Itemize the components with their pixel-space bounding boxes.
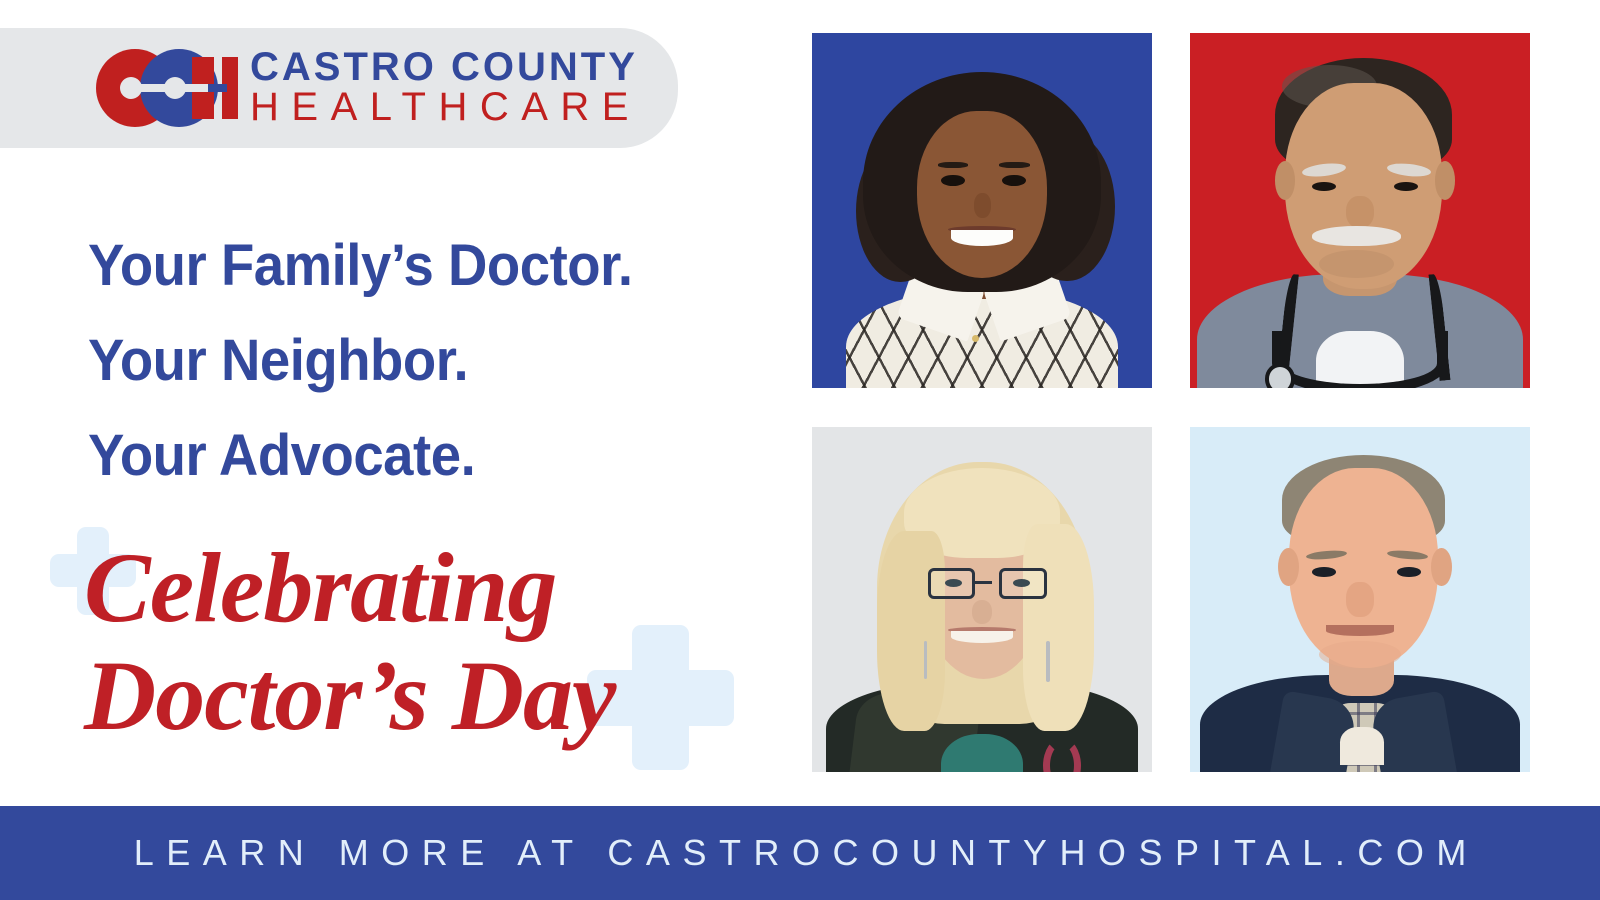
bottom-banner: LEARN MORE AT CASTROCOUNTYHOSPITAL.COM xyxy=(0,806,1600,900)
logo-wordmark: CASTRO COUNTY HEALTHCARE xyxy=(250,48,641,128)
subhead-line-2: Doctor’s Day xyxy=(84,642,804,750)
photo-grid xyxy=(812,33,1530,772)
headline: Your Family’s Doctor. Your Neighbor. You… xyxy=(88,218,746,503)
banner-call-to-action[interactable]: LEARN MORE AT CASTROCOUNTYHOSPITAL.COM xyxy=(121,832,1479,874)
poster-canvas: CASTRO COUNTY HEALTHCARE Your Family’s D… xyxy=(0,0,1600,900)
portrait-photo-bottom-right xyxy=(1190,427,1530,772)
subhead-line-1: Celebrating xyxy=(84,534,804,642)
portrait-photo-top-left xyxy=(812,33,1152,388)
headline-line-1: Your Family’s Doctor. xyxy=(88,218,746,313)
subhead: Celebrating Doctor’s Day xyxy=(84,534,804,750)
portrait-photo-bottom-left xyxy=(812,427,1152,772)
headline-line-2: Your Neighbor. xyxy=(88,313,746,408)
portrait-photo-top-right xyxy=(1190,33,1530,388)
logo-panel: CASTRO COUNTY HEALTHCARE xyxy=(0,28,678,148)
logo-name-line-1: CASTRO COUNTY xyxy=(250,48,641,87)
logo-name-line-2: HEALTHCARE xyxy=(250,87,641,128)
stethoscope-icon xyxy=(1272,331,1449,388)
cch-monogram-icon xyxy=(96,49,238,127)
headline-line-3: Your Advocate. xyxy=(88,408,746,503)
logo-lockup: CASTRO COUNTY HEALTHCARE xyxy=(96,48,641,128)
